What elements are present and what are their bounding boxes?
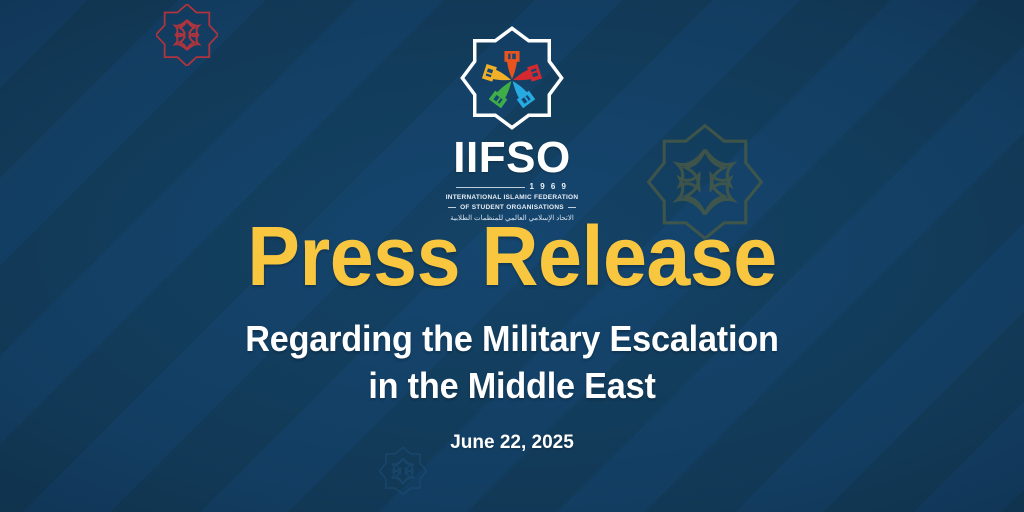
rule-left bbox=[456, 187, 525, 188]
logo-year-rule: 1 9 6 9 bbox=[456, 183, 568, 191]
iifso-star-emblem-icon bbox=[458, 24, 566, 132]
logo-tagline-line1: INTERNATIONAL ISLAMIC FEDERATION bbox=[437, 193, 587, 203]
logo-founding-year: 1 9 6 9 bbox=[530, 183, 568, 191]
logo-wordmark: IIFSO bbox=[453, 136, 570, 180]
press-release-poster: IIFSO 1 9 6 9 INTERNATIONAL ISLAMIC FEDE… bbox=[0, 0, 1024, 512]
headline-block: Press Release Regarding the Military Esc… bbox=[0, 214, 1024, 454]
subtitle-line-2: in the Middle East bbox=[26, 363, 999, 410]
publication-date: June 22, 2025 bbox=[0, 432, 1024, 454]
page-title: Press Release bbox=[31, 214, 994, 298]
iifso-logo: IIFSO 1 9 6 9 INTERNATIONAL ISLAMIC FEDE… bbox=[0, 24, 1024, 224]
subtitle-line-1: Regarding the Military Escalation bbox=[245, 318, 778, 359]
page-subtitle: Regarding the Military Escalation in the… bbox=[26, 316, 999, 410]
